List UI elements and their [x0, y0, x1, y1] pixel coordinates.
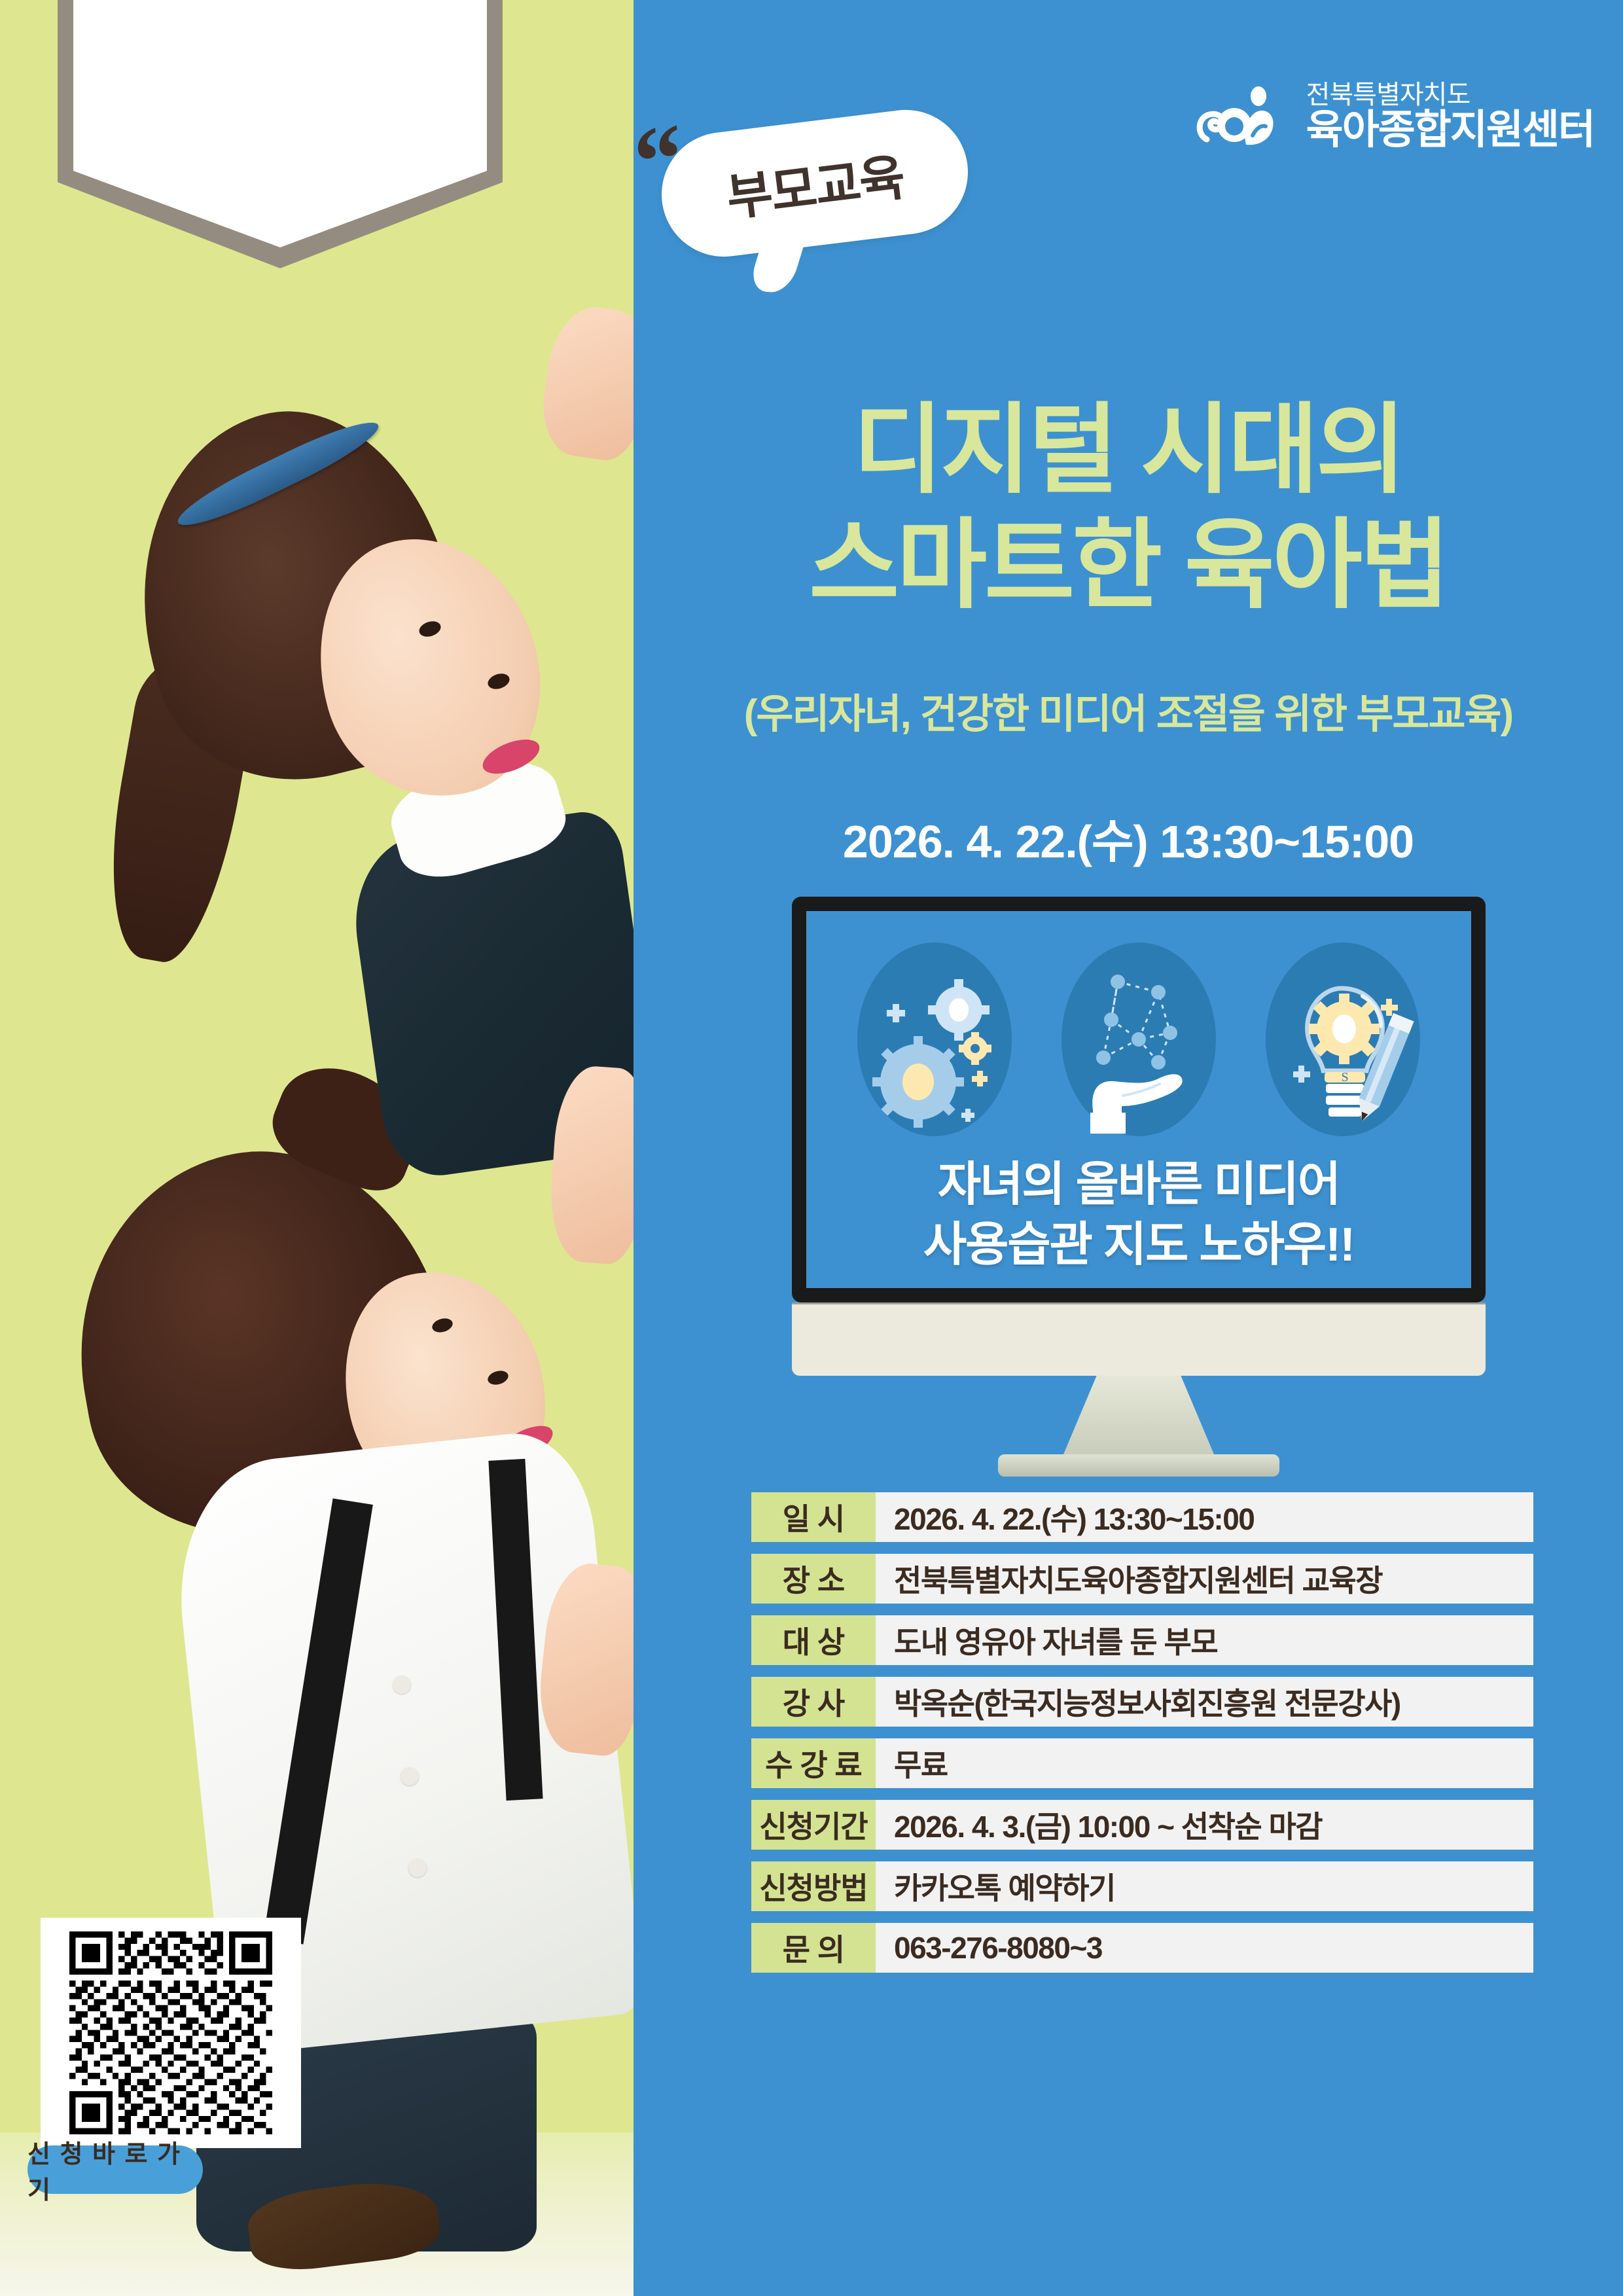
subtitle: (우리자녀, 건강한 미디어 조절을 위한 부모교육) — [633, 681, 1623, 740]
row-value: 박옥순(한국지능정보사회진흥원 전문강사) — [876, 1677, 1533, 1727]
row-label: 수 강 료 — [751, 1738, 876, 1788]
title-line-1: 디지털 시대의 — [633, 393, 1623, 508]
table-row: 장 소 전북특별자치도육아종합지원센터 교육장 — [751, 1554, 1533, 1604]
row-label: 장 소 — [751, 1554, 876, 1604]
table-row: 신청기간 2026. 4. 3.(금) 10:00 ~ 선착순 마감 — [751, 1800, 1533, 1850]
boy-shirt-button — [393, 1676, 411, 1694]
event-datetime: 2026. 4. 22.(수) 13:30~15:00 — [633, 805, 1623, 871]
row-value: 063-276-8080~3 — [876, 1923, 1533, 1973]
row-label: 대 상 — [751, 1615, 876, 1665]
hand-network-icon — [1060, 941, 1217, 1138]
lightbulb-pencil-icon: S — [1264, 941, 1421, 1138]
speech-bubble-label: 부모교육 — [658, 129, 972, 238]
ribbon-line-2: 부모인성교육 — [58, 67, 503, 122]
logo-text: 전북특별자치도 육아종합지원센터 — [1306, 81, 1594, 152]
monitor-graphic: S — [792, 897, 1486, 1477]
gears-icon — [856, 941, 1013, 1138]
row-value: 2026. 4. 3.(금) 10:00 ~ 선착순 마감 — [876, 1800, 1533, 1850]
row-value: 2026. 4. 22.(수) 13:30~15:00 — [876, 1492, 1533, 1542]
center-logo: 전북특별자치도 육아종합지원센터 — [1195, 81, 1594, 152]
monitor-bezel: S — [792, 897, 1486, 1302]
poster-root: 키움뜰 부모인성교육 전북특별자치도 육아종합지원센터 “ 부모교육 디지털 시… — [0, 0, 1623, 2296]
logo-line-1: 전북특별자치도 — [1306, 81, 1594, 109]
ribbon-text: 키움뜰 부모인성교육 — [58, 13, 503, 121]
boy-shirt-button — [408, 1859, 427, 1877]
qr-code-icon[interactable] — [63, 1931, 279, 2134]
table-row: 수 강 료 무료 — [751, 1738, 1533, 1788]
monitor-stand-neck — [1063, 1376, 1214, 1454]
row-label: 신청방법 — [751, 1861, 876, 1911]
parent-child-logo-mark-icon — [1195, 82, 1293, 151]
table-row: 신청방법 카카오톡 예약하기 — [751, 1861, 1533, 1911]
title-line-2: 스마트한 육아법 — [633, 508, 1623, 623]
logo-line-2: 육아종합지원센터 — [1306, 109, 1594, 152]
monitor-chin — [792, 1302, 1486, 1376]
table-row: 일 시 2026. 4. 22.(수) 13:30~15:00 — [751, 1492, 1533, 1542]
monitor-stand-base — [998, 1454, 1279, 1477]
monitor-icon-row: S — [806, 911, 1471, 1138]
row-label: 일 시 — [751, 1492, 876, 1542]
screen-text-line-1: 자녀의 올바른 미디어 — [806, 1155, 1471, 1215]
svg-text:S: S — [1341, 1070, 1348, 1085]
row-label: 신청기간 — [751, 1800, 876, 1850]
row-value: 카카오톡 예약하기 — [876, 1861, 1533, 1911]
table-row: 강 사 박옥순(한국지능정보사회진흥원 전문강사) — [751, 1677, 1533, 1727]
qr-code-container[interactable] — [41, 1918, 301, 2148]
table-row: 문 의 063-276-8080~3 — [751, 1923, 1533, 1973]
boy-shirt-button — [401, 1767, 419, 1785]
row-value: 도내 영유아 자녀를 둔 부모 — [876, 1615, 1533, 1665]
row-label: 문 의 — [751, 1923, 876, 1973]
girl-hand-upper — [537, 302, 633, 465]
monitor-screen-text: 자녀의 올바른 미디어 사용습관 지도 노하우!! — [806, 1155, 1471, 1275]
row-value: 전북특별자치도육아종합지원센터 교육장 — [876, 1554, 1533, 1604]
monitor-screen: S — [806, 911, 1471, 1288]
page-title: 디지털 시대의 스마트한 육아법 — [633, 393, 1623, 622]
table-row: 대 상 도내 영유아 자녀를 둔 부모 — [751, 1615, 1533, 1665]
screen-text-line-2: 사용습관 지도 노하우!! — [806, 1215, 1471, 1275]
row-value: 무료 — [876, 1738, 1533, 1788]
info-table: 일 시 2026. 4. 22.(수) 13:30~15:00 장 소 전북특별… — [751, 1492, 1533, 1984]
row-label: 강 사 — [751, 1677, 876, 1727]
ribbon-line-1: 키움뜰 — [58, 13, 503, 67]
apply-now-button[interactable]: 신 청 바 로 가 기 — [27, 2145, 203, 2194]
